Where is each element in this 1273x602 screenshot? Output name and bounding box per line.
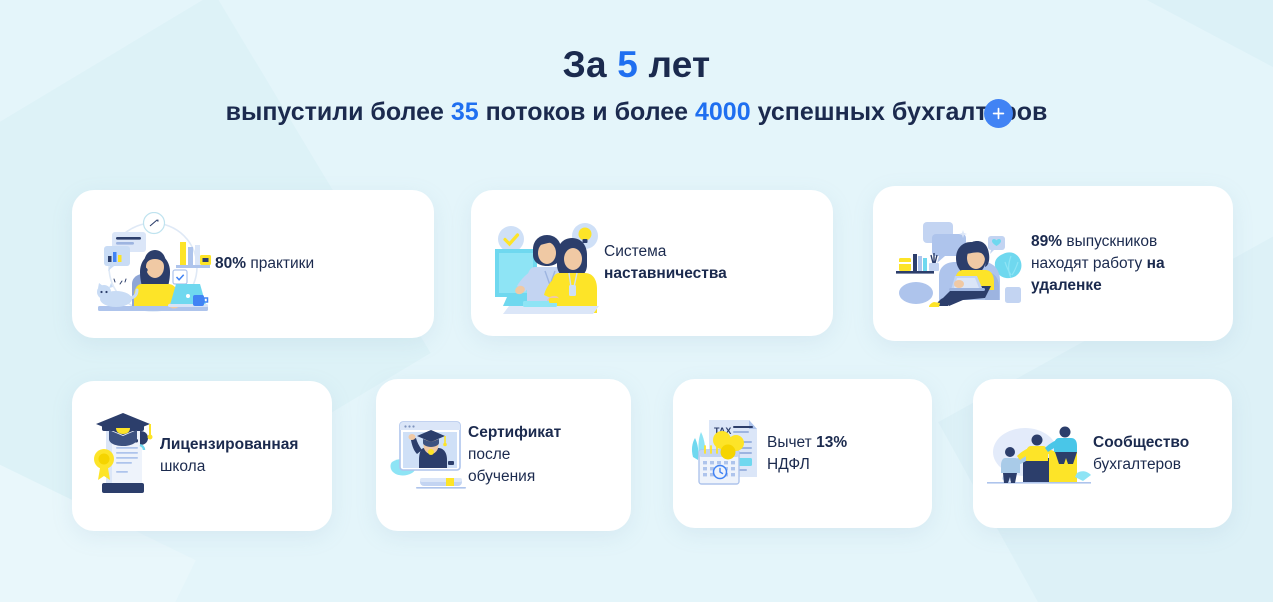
expand-button[interactable]: [984, 99, 1013, 128]
headline-number: 5: [617, 44, 638, 85]
card-tax-text: Вычет 13% НДФЛ: [767, 432, 867, 476]
card-practice-rest: практики: [246, 255, 314, 272]
card-certificate-rest: после обучения: [468, 444, 578, 488]
mentor-pair-at-computer-illustration: [489, 211, 604, 316]
card-practice[interactable]: 80% практики: [72, 190, 434, 338]
page-root: За 5 лет выпустили более 35 потоков и бо…: [0, 0, 1273, 602]
card-mentorship-text: Система наставничества: [604, 241, 727, 285]
headline-prefix: За: [563, 44, 618, 85]
card-mentorship-line1: Система: [604, 241, 727, 263]
card-certificate[interactable]: Сертификат после обучения: [376, 379, 631, 531]
tax-document-calendar-coins-illustration: TAX: [687, 414, 767, 494]
card-remote-bold1: 89%: [1031, 233, 1062, 250]
headline-suffix: лет: [638, 44, 710, 85]
card-remote-text: 89% выпускников находят работу на удален…: [1031, 231, 1191, 297]
card-community-rest: бухгалтеров: [1093, 454, 1203, 476]
card-tax-bold: 13%: [816, 434, 847, 451]
card-tax-prefix: Вычет: [767, 434, 816, 451]
card-certificate-text: Сертификат после обучения: [468, 422, 578, 488]
plus-icon: [992, 107, 1005, 120]
card-practice-text: 80% практики: [215, 253, 314, 275]
page-subtitle: выпустили более 35 потоков и более 4000 …: [0, 93, 1273, 132]
card-license[interactable]: Лицензированная школа: [72, 381, 332, 531]
card-mentorship[interactable]: Система наставничества: [471, 190, 833, 336]
diploma-with-graduation-cap-illustration: [88, 411, 160, 501]
graduate-on-screen-illustration: [390, 416, 468, 494]
subhead-number-graduates: 4000: [695, 98, 751, 126]
card-community[interactable]: Сообщество бухгалтеров: [973, 379, 1232, 528]
subhead-number-streams: 35: [451, 98, 479, 126]
card-license-rest: школа: [160, 456, 295, 478]
subhead-part1: выпустили более: [226, 98, 451, 126]
woman-in-armchair-with-laptop-illustration: [891, 214, 1031, 314]
people-on-podium-illustration: [985, 418, 1093, 490]
card-community-text: Сообщество бухгалтеров: [1093, 432, 1203, 476]
subhead-part2: потоков и более: [479, 98, 695, 126]
card-remote[interactable]: 89% выпускников находят работу на удален…: [873, 186, 1233, 341]
card-mentorship-line2: наставничества: [604, 265, 727, 282]
card-license-text: Лицензированная школа: [160, 434, 295, 478]
card-license-bold: Лицензированная: [160, 436, 298, 453]
card-certificate-bold: Сертификат: [468, 424, 561, 441]
card-tax[interactable]: TAX: [673, 379, 932, 528]
card-tax-rest: НДФЛ: [767, 454, 867, 476]
card-practice-bold: 80%: [215, 255, 246, 272]
woman-at-laptop-illustration: [90, 212, 215, 317]
page-title: За 5 лет: [0, 42, 1273, 88]
card-community-bold: Сообщество: [1093, 434, 1189, 451]
